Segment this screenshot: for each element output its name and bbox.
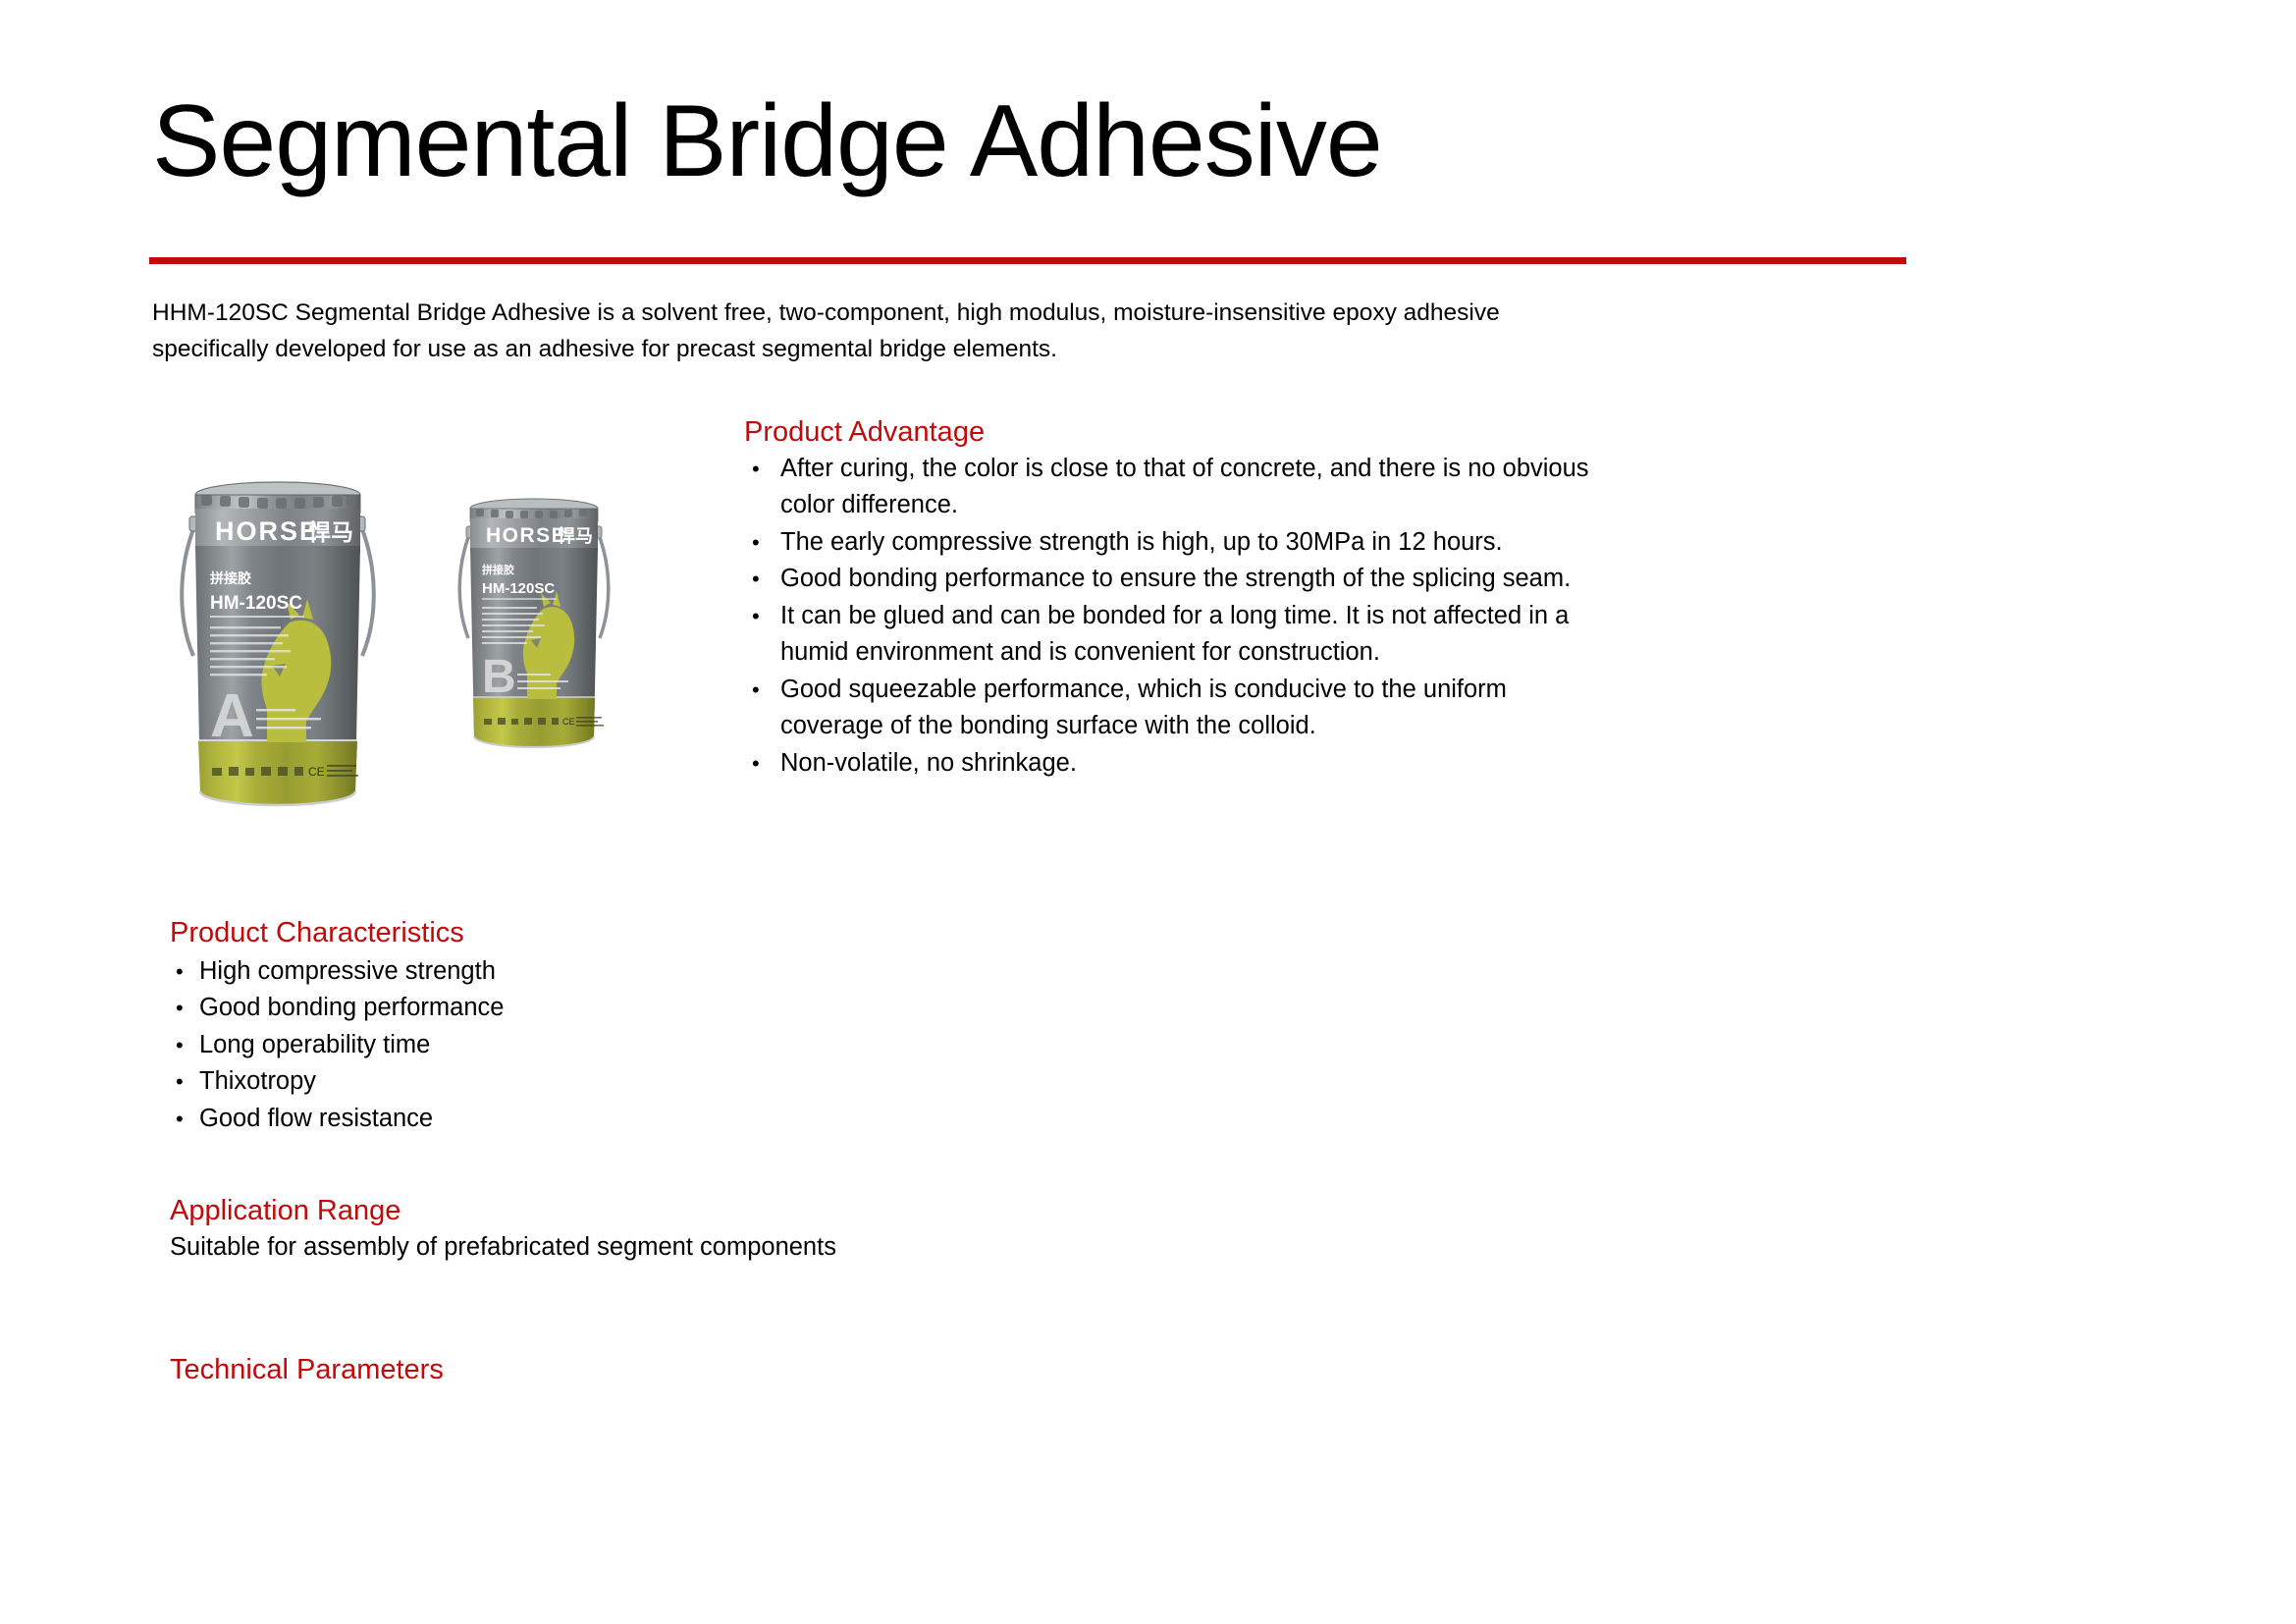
- page-title: Segmental Bridge Adhesive: [152, 86, 1919, 196]
- application-range-section: Application Range Suitable for assembly …: [170, 1196, 1250, 1266]
- svg-text:HORSE: HORSE: [215, 516, 319, 546]
- technical-parameters-section: Technical Parameters: [170, 1355, 1053, 1386]
- product-advantage-section: Product Advantage After curing, the colo…: [744, 417, 1873, 782]
- product-advantage-list: After curing, the color is close to that…: [744, 451, 1873, 783]
- list-item: Good flow resistance: [170, 1101, 916, 1138]
- advantage-item-3-line1: It can be glued and can be bonded for a …: [780, 602, 1569, 629]
- list-item: Non-volatile, no shrinkage.: [744, 745, 1873, 783]
- svg-text:拼接胶: 拼接胶: [482, 563, 514, 576]
- intro-line-2: specifically developed for use as an adh…: [152, 331, 1841, 367]
- product-advantage-heading: Product Advantage: [744, 417, 1873, 449]
- pail-b: HORSE 悍马 拼接胶 HM-120SC B: [459, 499, 609, 747]
- pail-a: HORSE 悍马 拼接胶 HM-120SC A: [182, 482, 374, 805]
- list-item: Good squeezable performance, which is co…: [744, 672, 1873, 745]
- advantage-item-2-line1: Good bonding performance to ensure the s…: [780, 565, 1571, 592]
- advantage-item-0-line2: color difference.: [780, 487, 1873, 524]
- list-item: Good bonding performance: [170, 990, 916, 1027]
- list-item: It can be glued and can be bonded for a …: [744, 598, 1873, 672]
- product-characteristics-list: High compressive strength Good bonding p…: [170, 953, 916, 1138]
- intro-paragraph: HHM-120SC Segmental Bridge Adhesive is a…: [152, 295, 1841, 367]
- svg-text:HM-120SC: HM-120SC: [210, 593, 302, 614]
- advantage-item-1-line1: The early compressive strength is high, …: [780, 528, 1503, 556]
- svg-text:悍马: 悍马: [558, 525, 593, 547]
- list-item: Thixotropy: [170, 1063, 916, 1101]
- advantage-item-5-line1: Non-volatile, no shrinkage.: [780, 749, 1077, 777]
- application-range-text: Suitable for assembly of prefabricated s…: [170, 1229, 1250, 1266]
- advantage-item-0-line1: After curing, the color is close to that…: [780, 455, 1589, 482]
- svg-text:B: B: [482, 651, 516, 703]
- advantage-item-3-line2: humid environment and is convenient for …: [780, 634, 1873, 672]
- list-item: Long operability time: [170, 1027, 916, 1064]
- document-page: Segmental Bridge Adhesive HHM-120SC Segm…: [0, 0, 2296, 1624]
- svg-text:HM-120SC: HM-120SC: [482, 580, 555, 597]
- list-item: High compressive strength: [170, 953, 916, 991]
- svg-text:CE: CE: [562, 717, 575, 727]
- product-photo: HORSE 悍马 拼接胶 HM-120SC B: [172, 452, 702, 854]
- advantage-item-4-line1: Good squeezable performance, which is co…: [780, 676, 1507, 703]
- svg-text:CE: CE: [308, 765, 325, 779]
- product-characteristics-section: Product Characteristics High compressive…: [170, 918, 916, 1137]
- application-range-heading: Application Range: [170, 1196, 1250, 1227]
- svg-text:悍马: 悍马: [308, 520, 353, 546]
- product-characteristics-heading: Product Characteristics: [170, 918, 916, 949]
- intro-line-1: HHM-120SC Segmental Bridge Adhesive is a…: [152, 295, 1841, 331]
- svg-text:HORSE: HORSE: [486, 524, 566, 547]
- technical-parameters-heading: Technical Parameters: [170, 1355, 1053, 1386]
- list-item: After curing, the color is close to that…: [744, 451, 1873, 524]
- svg-text:拼接胶: 拼接胶: [210, 570, 251, 587]
- list-item: The early compressive strength is high, …: [744, 524, 1873, 562]
- title-divider-rule: [149, 257, 1906, 264]
- title-block: Segmental Bridge Adhesive: [152, 86, 1919, 196]
- svg-text:A: A: [210, 682, 254, 750]
- advantage-item-4-line2: coverage of the bonding surface with the…: [780, 708, 1873, 745]
- list-item: Good bonding performance to ensure the s…: [744, 561, 1873, 598]
